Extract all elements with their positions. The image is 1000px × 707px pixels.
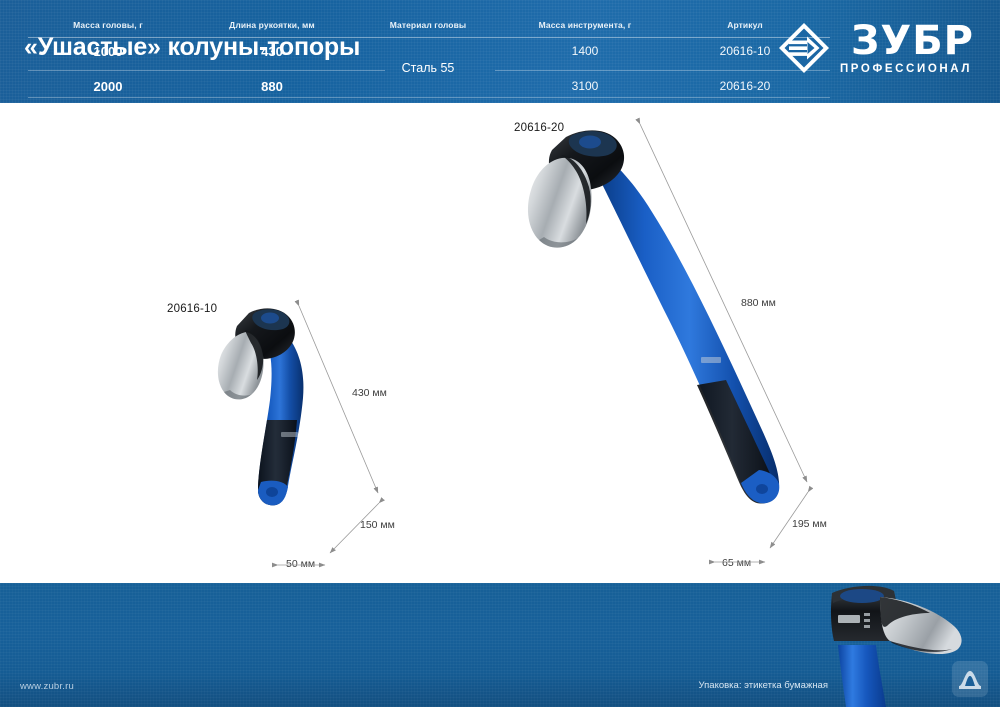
table-row: 20616-10 xyxy=(720,44,771,58)
table-row: 880 xyxy=(261,79,283,94)
table-header-material: Материал головы xyxy=(390,20,467,30)
product-illustration-area xyxy=(0,103,1000,583)
packaging-note: Упаковка: этикетка бумажная xyxy=(699,680,828,691)
table-row: 3100 xyxy=(572,79,599,93)
table-rule-header xyxy=(28,37,830,38)
table-rule-bottom xyxy=(28,97,830,98)
table-row: 430 xyxy=(261,44,283,59)
table-header-head-mass: Масса головы, г xyxy=(73,20,143,30)
specification-table: Масса головы, г Длина рукоятки, мм Матер… xyxy=(0,0,840,124)
table-row: 1400 xyxy=(572,44,599,58)
table-row: 1000 xyxy=(94,44,123,59)
corner-watermark-logo xyxy=(952,661,988,697)
table-cell-material-merged: Сталь 55 xyxy=(402,61,455,75)
table-rule-middle-right xyxy=(495,70,830,71)
dimension-label-large-length: 880 мм xyxy=(741,297,776,309)
table-row: 20616-20 xyxy=(720,79,771,93)
table-rule-middle-left xyxy=(28,70,385,71)
dimension-label-large-blade-depth: 65 мм xyxy=(722,557,751,569)
brand-logo-text: ЗУБР ПРОФЕССИОНАЛ xyxy=(840,20,974,76)
product-spec-sheet: «Ушастые» колуны-топоры ЗУБР ПРОФЕССИОНА… xyxy=(0,0,1000,707)
sku-label-small-axe: 20616-10 xyxy=(167,303,217,315)
dimension-label-large-head-width: 195 мм xyxy=(792,518,827,530)
website-url[interactable]: www.zubr.ru xyxy=(20,681,74,692)
dimension-label-small-length: 430 мм xyxy=(352,387,387,399)
table-row: 2000 xyxy=(94,79,123,94)
table-header-article: Артикул xyxy=(727,20,763,30)
table-header-handle-length: Длина рукоятки, мм xyxy=(229,20,315,30)
brand-name: ЗУБР xyxy=(851,21,974,61)
dimension-label-small-blade-depth: 50 мм xyxy=(286,558,315,570)
brand-tagline: ПРОФЕССИОНАЛ xyxy=(840,62,972,76)
table-header-tool-mass: Масса инструмента, г xyxy=(539,20,632,30)
dimension-label-small-head-width: 150 мм xyxy=(360,519,395,531)
